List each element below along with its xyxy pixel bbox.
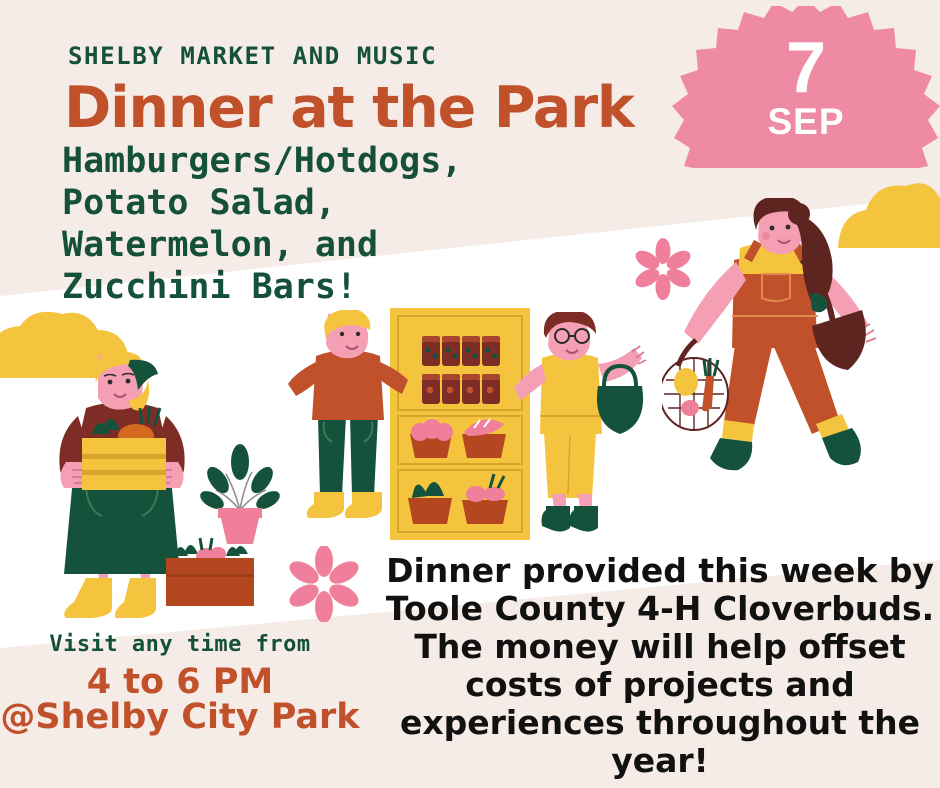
date-badge-month: SEP — [767, 103, 844, 140]
event-flyer: 7 SEP SHELBY MARKET AND MUSIC Dinner at … — [0, 0, 940, 788]
date-badge-day: 7 — [786, 34, 826, 102]
date-badge: 7 SEP — [672, 6, 940, 168]
menu-list: Hamburgers/Hotdogs, Potato Salad, Waterm… — [62, 140, 462, 308]
figure-vendor-with-jar — [288, 310, 408, 540]
menu-item: Watermelon, and — [62, 224, 462, 266]
visit-label: Visit any time from — [0, 632, 360, 657]
page-title: Dinner at the Park — [64, 75, 634, 141]
menu-item: Zucchini Bars! — [62, 266, 462, 308]
event-location: @Shelby City Park — [0, 697, 360, 737]
figure-shopper-with-tote — [512, 312, 647, 542]
menu-item: Potato Salad, — [62, 182, 462, 224]
event-time: 4 to 6 PM — [0, 662, 360, 702]
sponsor-message: Dinner provided this week by Toole Count… — [384, 552, 936, 780]
prop-market-shelf — [390, 308, 530, 540]
event-series-title: SHELBY MARKET AND MUSIC — [68, 42, 437, 70]
menu-item: Hamburgers/Hotdogs, — [62, 140, 462, 182]
prop-vegetable-crate — [160, 530, 260, 610]
flower-pink-left-icon — [286, 546, 362, 622]
figure-shopper-walking — [662, 198, 892, 483]
